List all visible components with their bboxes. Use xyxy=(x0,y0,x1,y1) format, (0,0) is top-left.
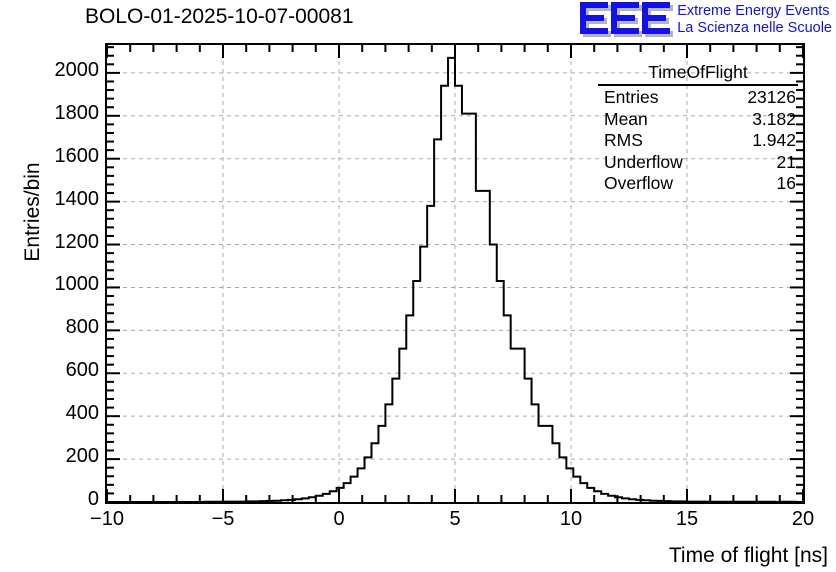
stats-value: 3.182 xyxy=(752,109,796,131)
stats-key: Mean xyxy=(604,109,648,131)
eee-letter-icon xyxy=(642,2,670,34)
stats-value: 16 xyxy=(777,173,796,195)
x-tick-label: 10 xyxy=(541,508,601,531)
y-tick-label: 1200 xyxy=(0,231,99,254)
y-tick-label: 800 xyxy=(0,316,99,339)
eee-logo-line1: Extreme Energy Events xyxy=(677,3,832,20)
stats-key: RMS xyxy=(604,130,643,152)
stats-key: Entries xyxy=(604,87,658,109)
eee-letter-icon xyxy=(580,2,608,34)
page-title: BOLO-01-2025-10-07-00081 xyxy=(85,5,354,29)
stats-row: RMS1.942 xyxy=(598,130,798,152)
y-tick-label: 400 xyxy=(0,402,99,425)
eee-logo-text: Extreme Energy Events La Scienza nelle S… xyxy=(677,1,832,37)
x-tick-label: 5 xyxy=(425,508,485,531)
stats-row: Overflow16 xyxy=(598,173,798,195)
y-tick-label: 600 xyxy=(0,359,99,382)
eee-logo-mark xyxy=(580,2,670,34)
y-tick-label: 200 xyxy=(0,445,99,468)
x-tick-label: 20 xyxy=(773,508,833,531)
stats-row: Underflow21 xyxy=(598,152,798,174)
x-axis-title: Time of flight [ns] xyxy=(669,544,828,568)
y-tick-label: 1000 xyxy=(0,273,99,296)
stats-row: Mean3.182 xyxy=(598,109,798,131)
y-tick-label: 1800 xyxy=(0,102,99,125)
stats-key: Underflow xyxy=(604,152,683,174)
x-tick-label: −10 xyxy=(77,508,137,531)
eee-logo: Extreme Energy Events La Scienza nelle S… xyxy=(580,1,832,37)
stats-value: 1.942 xyxy=(752,130,796,152)
stats-value: 23126 xyxy=(747,87,796,109)
eee-letter-icon xyxy=(611,2,639,34)
y-tick-label: 2000 xyxy=(0,59,99,82)
x-tick-label: 0 xyxy=(309,508,369,531)
y-tick-label: 1400 xyxy=(0,188,99,211)
x-tick-label: 15 xyxy=(657,508,717,531)
stats-box: TimeOfFlight Entries23126Mean3.182RMS1.9… xyxy=(598,62,798,195)
stats-rows: Entries23126Mean3.182RMS1.942Underflow21… xyxy=(598,87,798,195)
eee-logo-line2: La Scienza nelle Scuole xyxy=(677,20,832,37)
root-canvas: BOLO-01-2025-10-07-00081 Extreme Energy … xyxy=(0,0,836,572)
stats-key: Overflow xyxy=(604,173,673,195)
stats-title: TimeOfFlight xyxy=(598,62,798,86)
x-tick-label: −5 xyxy=(193,508,253,531)
stats-value: 21 xyxy=(777,152,796,174)
y-tick-label: 1600 xyxy=(0,145,99,168)
stats-row: Entries23126 xyxy=(598,87,798,109)
